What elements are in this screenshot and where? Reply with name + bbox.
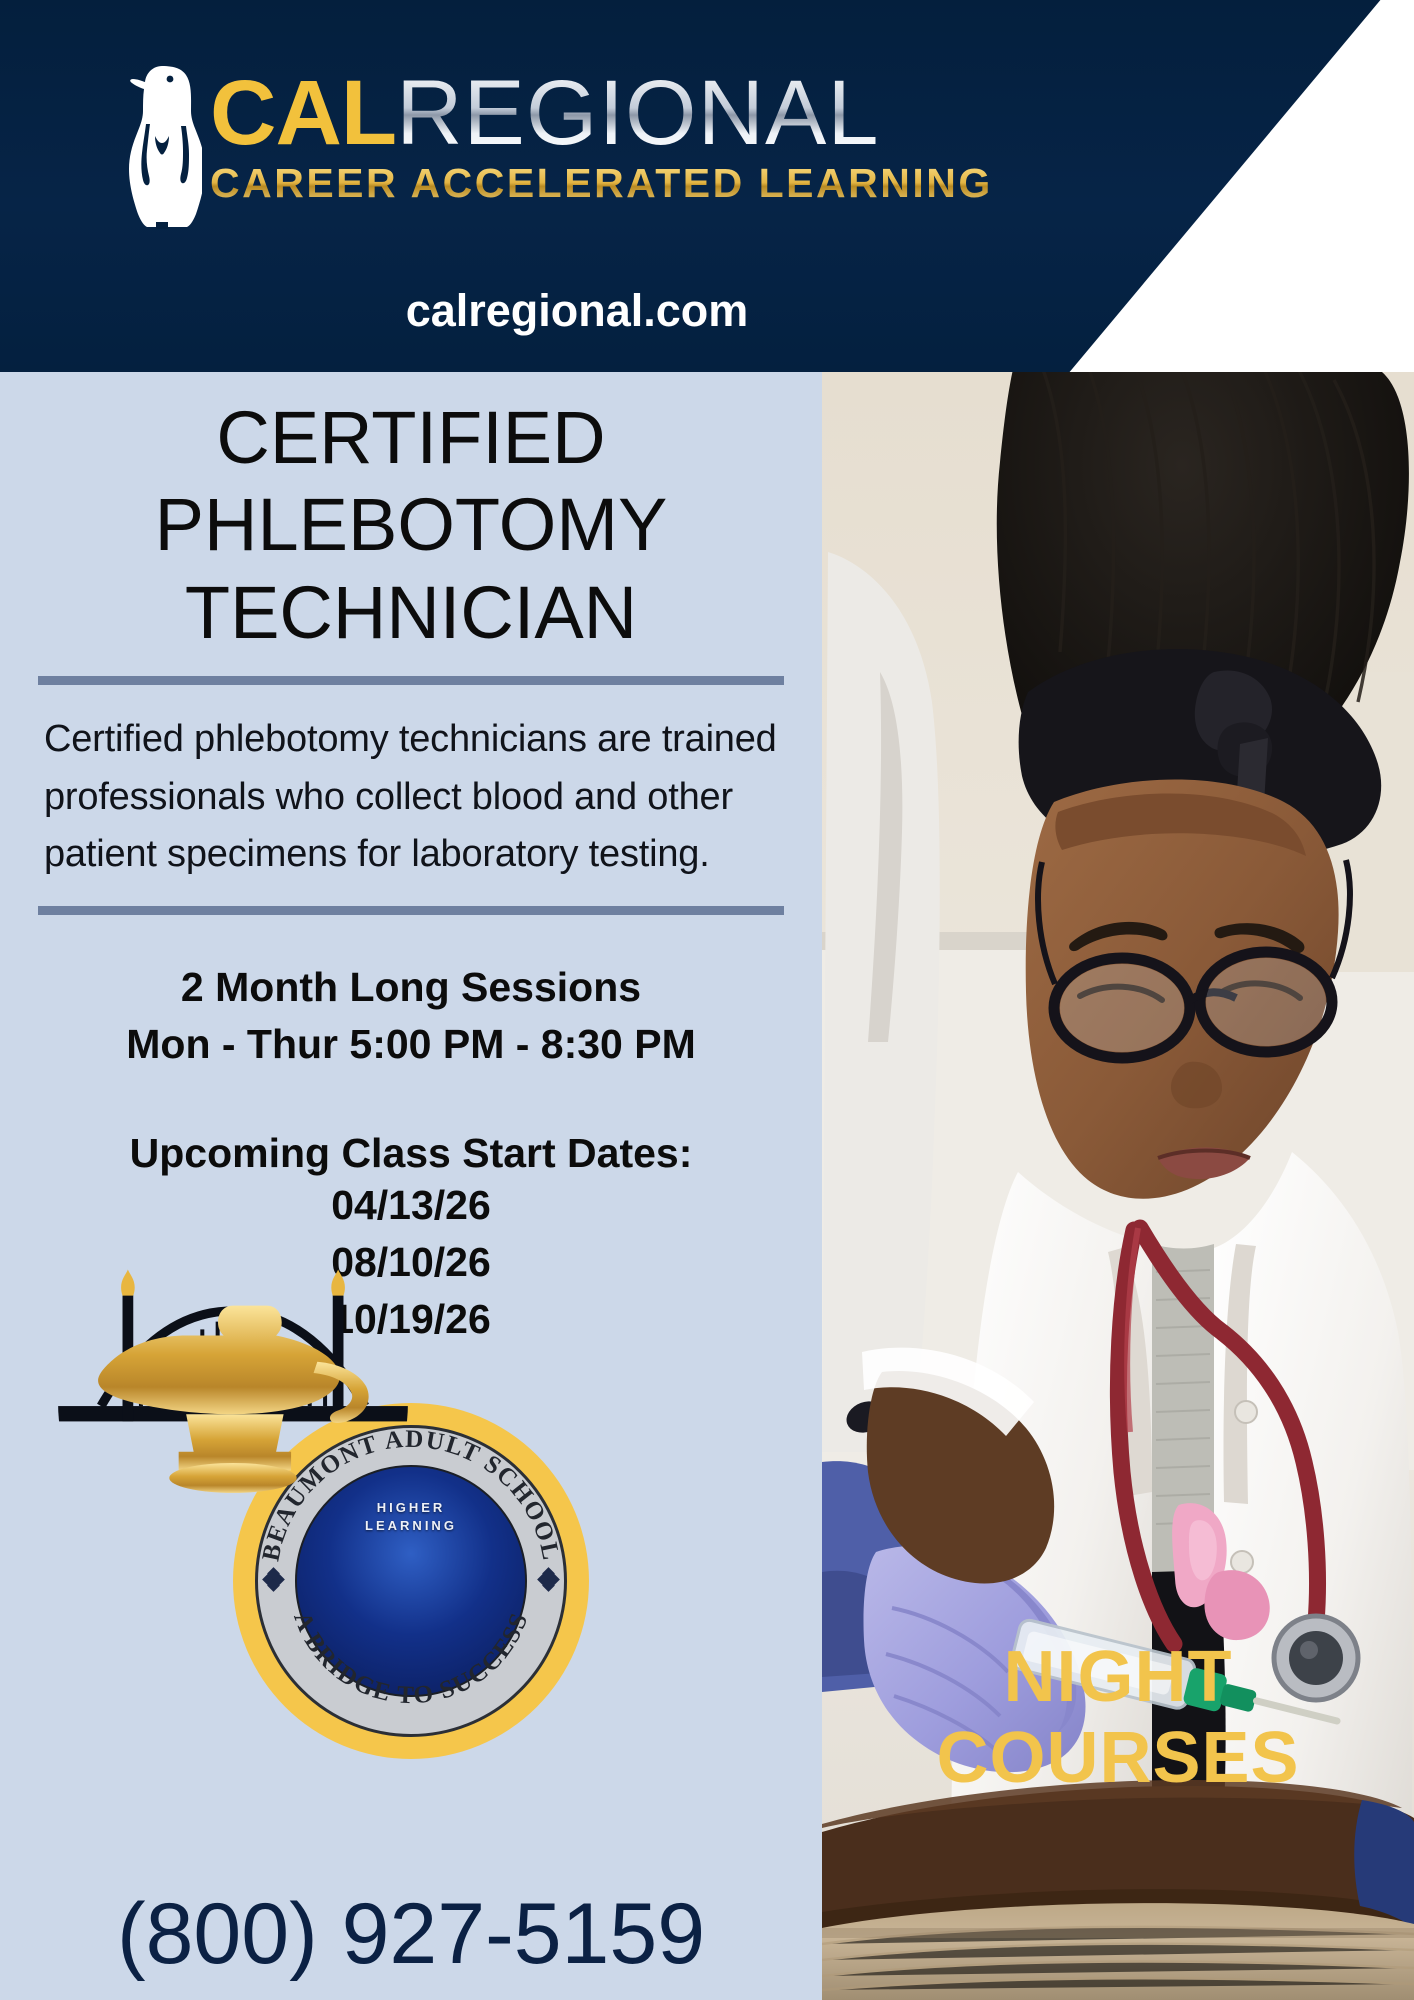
seal-ring-text: BEAUMONT ADULT SCHOOL A BRIDGE TO SUCCES…	[233, 1403, 589, 1759]
program-description: Certified phlebotomy technicians are tra…	[44, 711, 778, 884]
brand-logo: CALREGIONAL CAREER ACCELERATED LEARNING	[118, 62, 993, 232]
svg-text:BEAUMONT ADULT SCHOOL: BEAUMONT ADULT SCHOOL	[257, 1426, 564, 1564]
brand-word-regional: REGIONAL	[396, 62, 879, 164]
brand-wordmark-main: CALREGIONAL	[210, 68, 993, 158]
divider-bottom	[38, 906, 784, 915]
page-title-line-1: CERTIFIED	[30, 394, 792, 481]
night-courses-line-2: COURSES	[822, 1718, 1414, 1799]
start-dates-heading: Upcoming Class Start Dates:	[0, 1130, 822, 1177]
session-length: 2 Month Long Sessions	[0, 959, 822, 1016]
brand-wordmark: CALREGIONAL CAREER ACCELERATED LEARNING	[210, 62, 993, 207]
website-url[interactable]: calregional.com	[0, 285, 1414, 337]
phone-number[interactable]: (800) 927-5159	[0, 1885, 822, 1984]
session-schedule: Mon - Thur 5:00 PM - 8:30 PM	[0, 1016, 822, 1073]
info-panel: CERTIFIED PHLEBOTOMY TECHNICIAN Certifie…	[0, 372, 822, 2000]
brand-word-cal: CAL	[210, 62, 396, 164]
page-title-line-2: PHLEBOTOMY	[30, 481, 792, 568]
svg-text:A BRIDGE TO SUCCESS: A BRIDGE TO SUCCESS	[288, 1609, 534, 1710]
page-title-line-3: TECHNICIAN	[30, 569, 792, 656]
page-title: CERTIFIED PHLEBOTOMY TECHNICIAN	[0, 394, 822, 656]
flyer-page: CALREGIONAL CAREER ACCELERATED LEARNING …	[0, 0, 1414, 2000]
brand-tagline: CAREER ACCELERATED LEARNING	[210, 160, 993, 207]
page-header: CALREGIONAL CAREER ACCELERATED LEARNING …	[0, 0, 1414, 372]
divider-top	[38, 676, 784, 685]
seal-outer-ring: HIGHER LEARNING	[233, 1403, 589, 1759]
night-courses-line-1: NIGHT	[822, 1637, 1414, 1718]
school-seal: HIGHER LEARNING	[0, 1403, 822, 1759]
schedule-block: 2 Month Long Sessions Mon - Thur 5:00 PM…	[0, 959, 822, 1072]
penguin-icon	[118, 62, 202, 232]
night-courses-overlay: NIGHT COURSES	[822, 1637, 1414, 1798]
hero-photo: NIGHT COURSES	[822, 372, 1414, 2000]
